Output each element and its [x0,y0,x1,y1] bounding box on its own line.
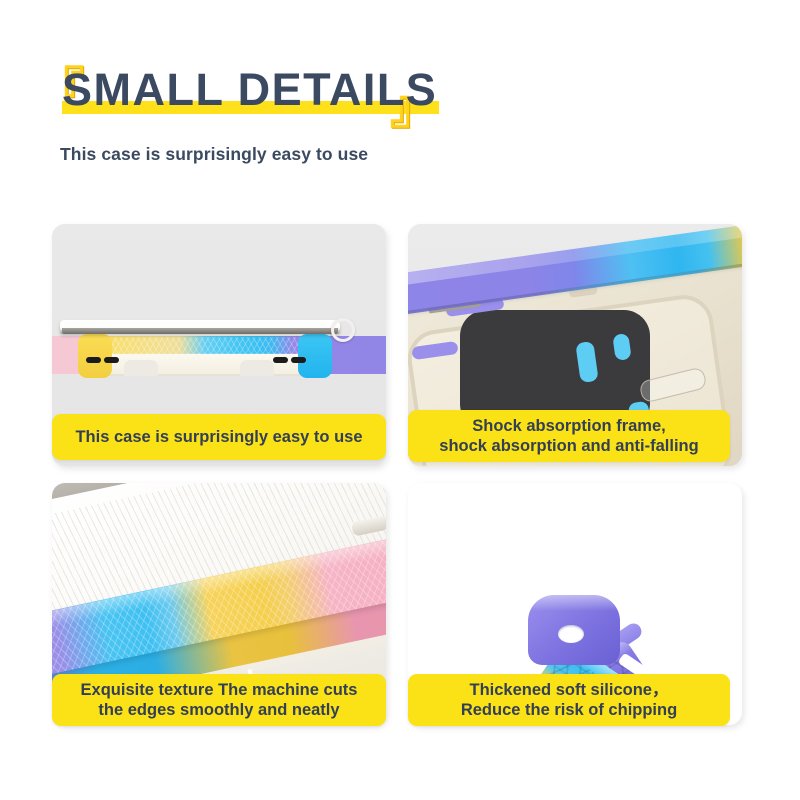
title-row: 『 SMALL DETAILS 』 [38,62,758,124]
caption-line: shock absorption and anti-falling [439,436,698,456]
page-subtitle: This case is surprisingly easy to use [60,144,368,165]
caption-side-profile: This case is surprisingly easy to use [52,414,386,460]
caption-line: Thickened soft silicone， [461,680,677,700]
caption-line: Reduce the risk of chipping [461,700,677,720]
page-header: 『 SMALL DETAILS 』 This case is surprisin… [38,62,758,124]
caption-silicone: Thickened soft silicone， Reduce the risk… [408,674,730,726]
caption-line: Exquisite texture The machine cuts [81,680,358,700]
page-title-text: SMALL DETAILS [62,64,437,115]
caption-line: Shock absorption frame, [439,416,698,436]
caption-line: This case is surprisingly easy to use [75,427,362,447]
caption-shock-frame: Shock absorption frame, shock absorption… [408,410,730,462]
page-title: SMALL DETAILS [60,62,441,120]
product-detail-page: 『 SMALL DETAILS 』 This case is surprisin… [0,0,800,800]
caption-line: the edges smoothly and neatly [81,700,358,720]
caption-texture: Exquisite texture The machine cuts the e… [52,674,386,726]
